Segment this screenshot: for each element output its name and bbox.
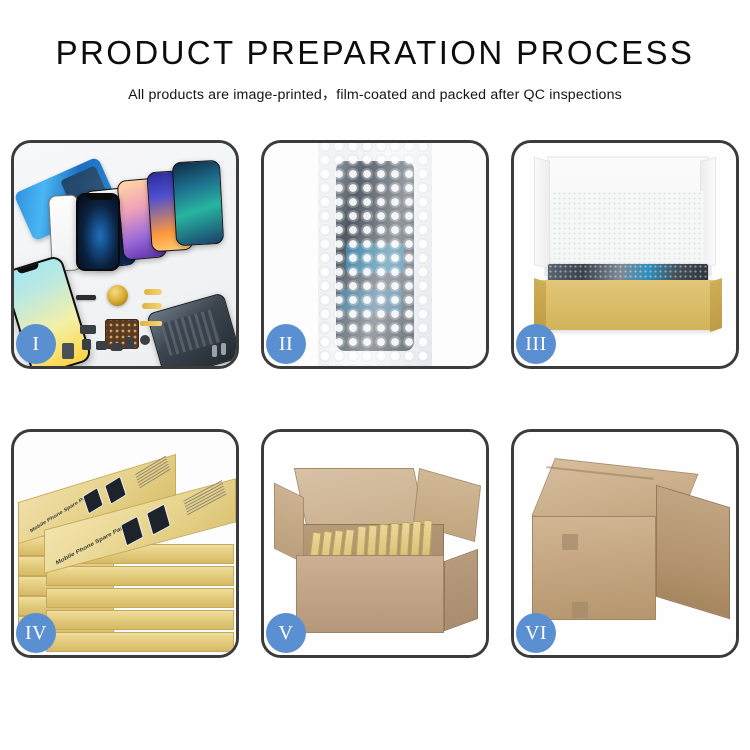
sealed-carton-side [656, 485, 730, 620]
small-part-2 [82, 339, 91, 350]
carton-side-panel [444, 549, 478, 631]
page-title: PRODUCT PREPARATION PROCESS [0, 0, 750, 71]
step-badge-3: III [516, 324, 556, 364]
battery-part-icon [62, 343, 74, 359]
step-panel-4[interactable]: Mobile Phone Spare Parts Mobile Phone Sp… [11, 429, 239, 658]
boxed-slab-f5 [46, 632, 234, 652]
step-badge-1: I [16, 324, 56, 364]
lid-phone-image-b1 [82, 487, 103, 515]
speaker-part-icon [76, 295, 96, 300]
boxed-slab-f3 [46, 588, 234, 608]
small-part-4 [110, 343, 123, 351]
plastic-sheen [318, 143, 432, 366]
flex-cable-1 [144, 289, 162, 295]
flex-cable-3 [140, 321, 162, 326]
lid-phone-image-b2 [104, 476, 127, 505]
step-panel-2[interactable]: II [261, 140, 489, 369]
small-part-1 [80, 325, 96, 334]
carton-flap-back [294, 468, 426, 526]
product-preparation-infographic: PRODUCT PREPARATION PROCESS All products… [0, 0, 750, 750]
step-badge-6: VI [516, 613, 556, 653]
box-lid-left [534, 157, 550, 269]
small-part-3 [96, 341, 107, 350]
lid-phone-image-f1 [120, 516, 144, 547]
phone-display-4 [172, 160, 224, 246]
small-part-5 [126, 337, 134, 349]
steps-grid: I II [11, 140, 739, 680]
step-panel-1[interactable]: I [11, 140, 239, 369]
step-badge-4: IV [16, 613, 56, 653]
carton-flap-left [274, 483, 304, 564]
lid-phone-image-f2 [146, 503, 171, 535]
header: PRODUCT PREPARATION PROCESS All products… [0, 0, 750, 104]
bubble-wrap-pouch [318, 143, 432, 366]
carton-front-panel [296, 555, 444, 633]
carton-tape-mark-1 [562, 534, 578, 550]
lid-spec-lines-back [135, 456, 171, 490]
boxed-slab-f2 [46, 566, 234, 586]
step-panel-6[interactable]: VI [511, 429, 739, 658]
step-panel-5[interactable]: V [261, 429, 489, 658]
step-badge-5: V [266, 613, 306, 653]
flex-cable-2 [142, 303, 162, 309]
wireless-coil-part-icon [107, 285, 128, 306]
phone-front-screen [76, 193, 120, 271]
page-subtitle: All products are image-printed，film-coat… [0, 71, 750, 104]
yellow-box-base [540, 280, 716, 330]
carton-tape-mark-2 [572, 602, 588, 618]
small-part-6 [140, 335, 150, 345]
boxed-slab-f4 [46, 610, 234, 630]
lid-spec-lines-front [183, 480, 226, 517]
step-panel-3[interactable]: III [511, 140, 739, 369]
screw-part-2 [221, 343, 226, 355]
screw-part-1 [212, 345, 217, 357]
step-badge-2: II [266, 324, 306, 364]
sealed-carton-front [532, 516, 656, 620]
